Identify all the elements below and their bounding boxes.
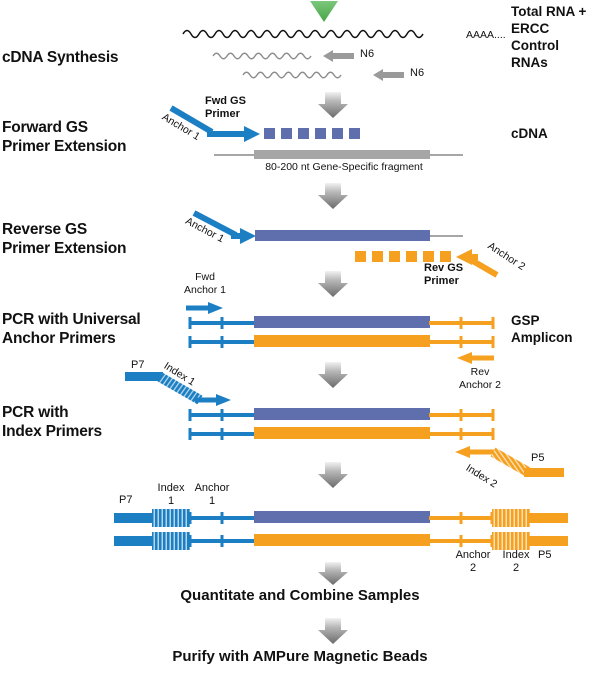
step-label-reverse-gs: Reverse GS Primer Extension: [2, 220, 126, 259]
rev-step-top-strand: [194, 213, 463, 244]
rev-anchor-2-label: Rev Anchor 2: [440, 366, 520, 391]
flow-arrow-5: [318, 462, 348, 488]
final-anchor-1-label: Anchor 1: [187, 482, 237, 508]
final-p7-label: P7: [119, 494, 132, 506]
workflow-diagram: cDNA Synthesis Forward GS Primer Extensi…: [0, 0, 600, 675]
fwd-extension-dashes: [264, 128, 360, 139]
rev-extension-dashes: [355, 251, 451, 262]
rev-anchor-2-arrow: [457, 352, 494, 364]
gsp-amplicon-bottom-strand: [189, 335, 494, 348]
fwd-anchor-1-label: Fwd Anchor 1: [165, 271, 245, 296]
flow-arrow-7: [318, 618, 348, 644]
footer-step-purify: Purify with AMPure Magnetic Beads: [0, 648, 600, 665]
rna-strand-fragment-2: [243, 72, 341, 78]
step-label-forward-gs: Forward GS Primer Extension: [2, 118, 126, 157]
final-library-bottom-strand: [114, 532, 568, 550]
final-anchor-2-label: Anchor 2: [448, 549, 498, 575]
n6-label-1: N6: [360, 48, 374, 60]
final-p5-label: P5: [538, 549, 551, 561]
fwd-gs-primer-label: Fwd GS Primer: [205, 95, 246, 120]
flow-arrow-6: [318, 562, 348, 585]
n6-arrow-1: [323, 50, 354, 62]
step-label-pcr-index: PCR with Index Primers: [2, 403, 102, 442]
rna-strand-fragment-1: [213, 53, 311, 59]
footer-step-quantitate: Quantitate and Combine Samples: [0, 587, 600, 604]
flow-arrow-4: [318, 362, 348, 388]
n6-arrow-2: [373, 69, 404, 81]
green-start-arrow: [310, 1, 338, 22]
index-amplicon-bottom-strand: [189, 427, 494, 440]
poly-a-tail-label: AAAA....: [466, 29, 506, 41]
final-library-top-strand: [114, 509, 568, 527]
rev-gs-primer-label: Rev GS Primer: [424, 262, 463, 287]
p7-primer-label: P7: [131, 359, 144, 371]
step-label-cdna-synthesis: cDNA Synthesis: [2, 48, 118, 67]
side-label-gsp-amplicon: GSP Amplicon: [511, 313, 573, 347]
flow-arrow-1: [318, 92, 348, 118]
p5-primer-label: P5: [531, 452, 544, 464]
side-label-cdna: cDNA: [511, 126, 548, 143]
n6-label-2: N6: [410, 67, 424, 79]
final-index-2-label: Index 2: [494, 549, 538, 575]
fragment-length-label: 80-200 nt Gene-Specific fragment: [252, 161, 436, 174]
flow-arrow-3: [318, 271, 348, 297]
step-label-pcr-universal: PCR with Universal Anchor Primers: [2, 310, 141, 349]
gsp-amplicon-top-strand: [189, 316, 494, 329]
side-label-total-rna: Total RNA + ERCC Control RNAs: [511, 4, 600, 72]
cdna-template-strand: [214, 150, 463, 159]
rna-strand-total: [183, 31, 423, 38]
fwd-anchor-1-arrow: [186, 302, 223, 314]
index-amplicon-top-strand: [189, 408, 494, 421]
flow-arrow-2: [318, 183, 348, 209]
